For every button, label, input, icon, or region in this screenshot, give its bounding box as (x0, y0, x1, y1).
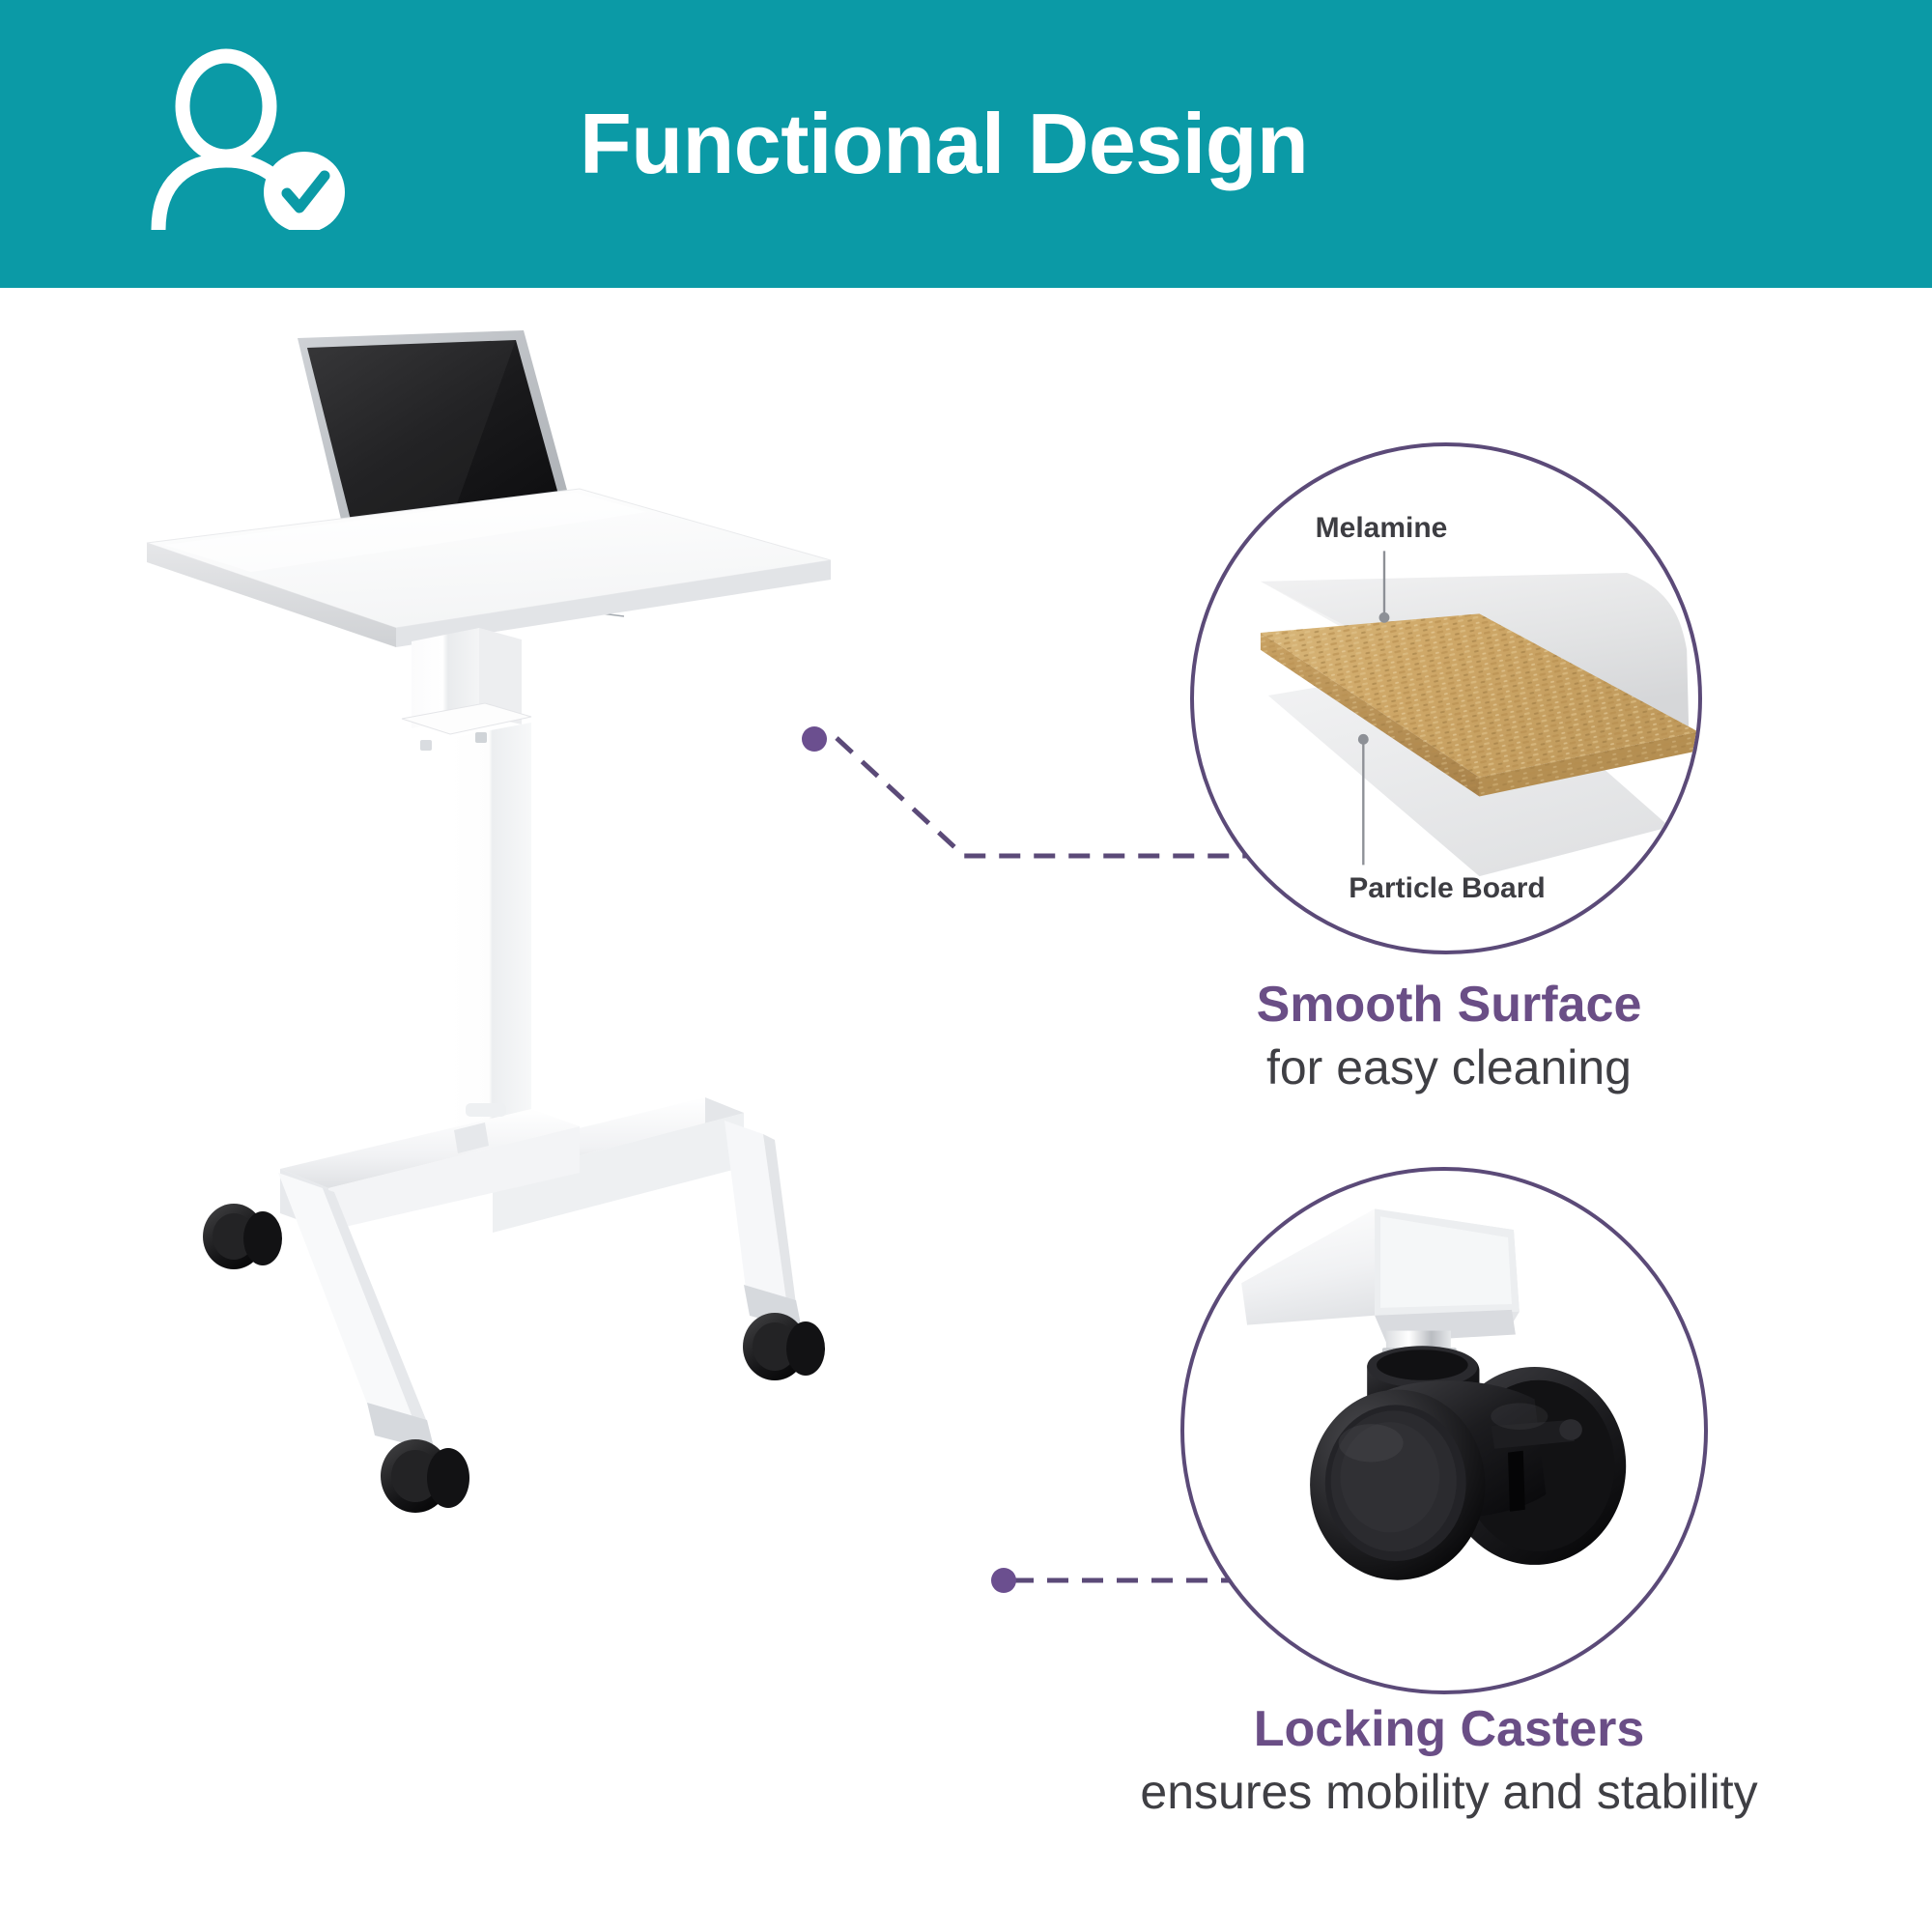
surface-connector-dot (802, 726, 827, 752)
person-check-icon (147, 46, 369, 230)
caption-locking-casters: Locking Casters ensures mobility and sta… (1014, 1700, 1884, 1821)
caption-smooth-surface: Smooth Surface for easy cleaning (1150, 976, 1748, 1096)
caster-rear-left (203, 1204, 282, 1269)
caster-connector-dot (991, 1568, 1016, 1593)
infographic-page: Functional Design (0, 0, 1932, 1932)
product-image-desk (126, 319, 1092, 1845)
callout-circle-locking-casters (1180, 1167, 1708, 1694)
height-adjust-column (402, 628, 531, 1188)
black-locking-caster-wheel (1184, 1171, 1704, 1690)
page-title: Functional Design (580, 0, 1308, 288)
caster-front-left (381, 1439, 469, 1513)
caption-title-locking-casters: Locking Casters (1014, 1700, 1884, 1759)
caption-sub-smooth-surface: for easy cleaning (1150, 1038, 1748, 1096)
caption-title-smooth-surface: Smooth Surface (1150, 976, 1748, 1035)
melamine-label: Melamine (1316, 512, 1448, 545)
particle-board-label: Particle Board (1349, 872, 1545, 905)
caster-front-right (743, 1313, 825, 1380)
desktop-surface (147, 489, 831, 647)
caption-sub-locking-casters: ensures mobility and stability (1014, 1763, 1884, 1821)
t-base (278, 1097, 802, 1451)
header-banner: Functional Design (0, 0, 1932, 288)
